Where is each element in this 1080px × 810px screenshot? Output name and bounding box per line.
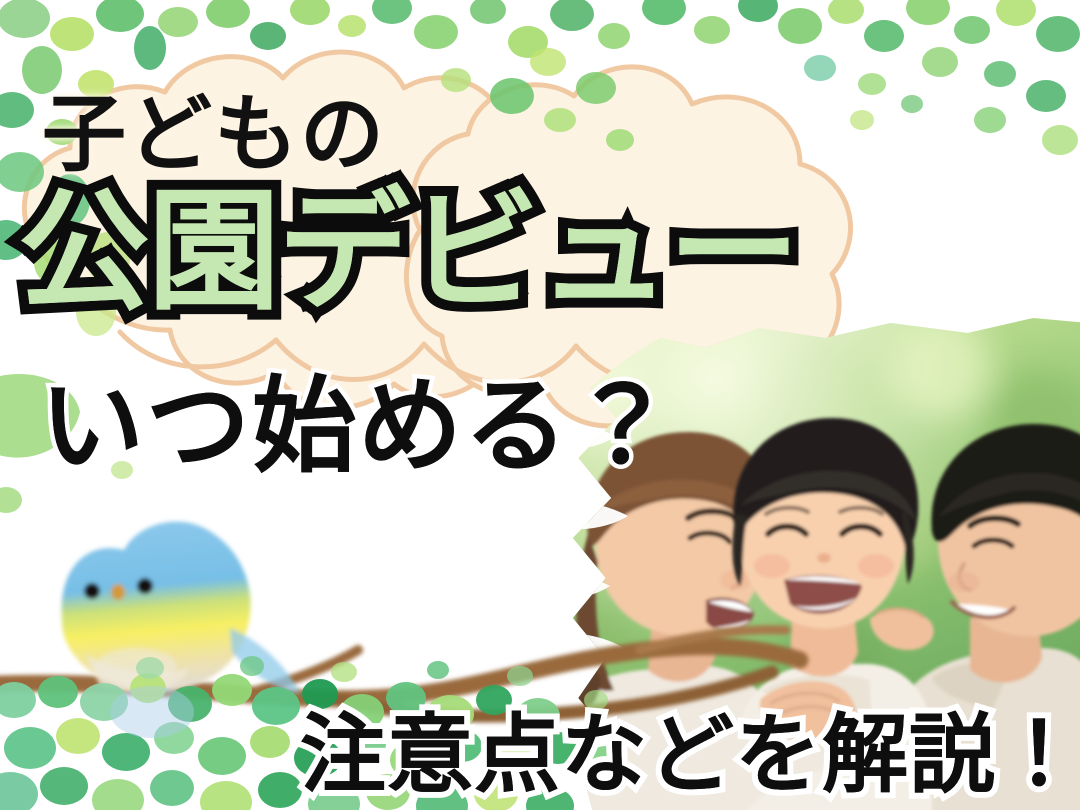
thumbnail-canvas: 子どもの 公園デビュー 公園デビュー いつ始める？ いつ始める？ 注意点などを解… bbox=[0, 0, 1080, 810]
headline-text: 公園デビュー bbox=[18, 186, 798, 318]
subhead-text: いつ始める？ bbox=[40, 374, 676, 478]
footer-text: 注意点などを解説！ bbox=[300, 712, 1080, 798]
bird-shadow-wash bbox=[110, 686, 194, 738]
eyebrow-text: 子どもの bbox=[42, 92, 386, 176]
